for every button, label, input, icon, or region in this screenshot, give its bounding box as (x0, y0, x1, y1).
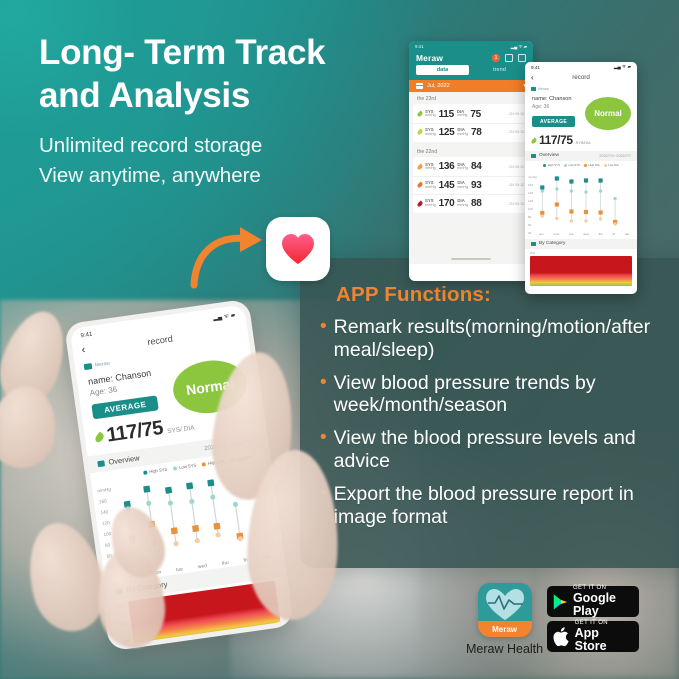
status-bar: 9:41 ▂▄ ᯤ ▰ (409, 41, 533, 50)
y-tick: 120 (528, 199, 533, 203)
headline-title: Long- Term Track and Analysis (39, 32, 379, 117)
function-text: View the blood pressure levels and advic… (334, 427, 678, 473)
record-time: J24 09:12 (509, 112, 524, 116)
tab-trend[interactable]: trend (473, 65, 526, 75)
y-tick: 140 (528, 191, 533, 195)
category-chart-small: DIA (525, 249, 637, 290)
brand-strip-label: Meraw (538, 87, 549, 91)
brand-block: Meraw Meraw Health (466, 583, 543, 656)
record-summary: name: Chanson Age: 36 AVERAGE 117/75 SYS… (525, 93, 637, 151)
heart-waveform-icon (478, 583, 532, 623)
legend-item: Low SYS (564, 164, 580, 167)
sys-value: 145 (439, 180, 455, 191)
status-time: 9:41 (80, 332, 92, 340)
section-square-icon (531, 154, 536, 158)
headline-line-2: and Analysis (39, 76, 250, 115)
status-icons: ▂▄ ᯤ ▰ (511, 44, 527, 50)
y-tick: 60 (528, 223, 531, 227)
y-tick: 80 (528, 215, 531, 219)
category-title: By Category (539, 241, 565, 246)
section-square-icon (531, 242, 536, 246)
bullet-icon: • (320, 484, 327, 529)
headline-subtitle: Unlimited record storage View anytime, a… (39, 131, 379, 190)
table-row[interactable]: SYSmmHg 115 DIAmmHg 75 J24 09:12 (413, 105, 529, 123)
level-drop-icon (530, 137, 537, 144)
curved-arrow-icon (190, 215, 270, 290)
phone-record-small: 9:41 ▂▄ ᯤ ▰ ‹ record Meraw name: Chanson… (525, 62, 637, 294)
level-drop-icon (416, 111, 423, 118)
records-card: SYSmmHg 136 DIAmmHg 84 J24 09:12 SYSmmHg… (413, 157, 529, 213)
y-tick: 40 (108, 564, 114, 570)
level-drop-icon (416, 200, 423, 207)
bullet-icon: • (320, 428, 327, 473)
tab-data[interactable]: data (416, 65, 469, 75)
dia-label: DIAmmHg (457, 199, 468, 207)
average-value: 117/75 (105, 417, 164, 448)
app-icon-label: Meraw (478, 621, 532, 637)
chart-legend: High SYS Low SYS High DIA Low DIA (530, 164, 632, 167)
table-row[interactable]: SYSmmHg 136 DIAmmHg 84 J24 09:12 (413, 158, 529, 176)
list-item: • Remark results(morning/motion/after me… (320, 316, 678, 362)
level-drop-icon (416, 129, 423, 136)
calendar-icon (416, 83, 423, 90)
legend-item: High SYS (543, 164, 560, 167)
list-item: • View the blood pressure levels and adv… (320, 427, 678, 473)
category-heatmap (530, 256, 632, 286)
average-value: 117/75 (539, 133, 573, 147)
status-icons: ▂▄ ᯤ ▰ (614, 64, 631, 70)
bullet-icon: • (320, 373, 327, 418)
dia-label: DIAmmHg (457, 163, 468, 171)
promo-banner: Long- Term Track and Analysis Unlimited … (0, 0, 679, 679)
brand-square-icon (84, 363, 93, 370)
records-list[interactable]: the 23rd SYSmmHg 115 DIAmmHg 75 J24 09:1… (409, 92, 533, 254)
sys-label: SYSmmHg (425, 110, 436, 118)
brand-square-icon (531, 87, 536, 91)
headline-block: Long- Term Track and Analysis Unlimited … (39, 32, 379, 191)
y-tick: 40 (528, 231, 531, 235)
apple-icon (553, 626, 570, 647)
date-label-group: Jul, 2022 (416, 83, 450, 90)
category-axis-label: DIA (116, 604, 125, 611)
google-play-icon (553, 592, 568, 612)
badge-text: GET IT ON App Store (575, 620, 633, 653)
record-time: J24 09:12 (509, 202, 524, 206)
legend-item: Low SYS (173, 464, 197, 472)
overview-date-range: 2022/7/1~2022/7/7 (599, 154, 631, 158)
phone-a-topbar: 9:41 ▂▄ ᯤ ▰ Meraw 1 data trend (409, 41, 533, 80)
day-group-label: the 22nd (413, 145, 529, 157)
x-axis-labels: sunmon tuewed thufri sat (539, 232, 629, 236)
brand-strip-label: Meraw (95, 361, 111, 369)
section-square-icon (115, 588, 123, 595)
brand-name: Meraw Health (466, 642, 543, 656)
level-drop-icon (94, 432, 106, 444)
nav-bar: ‹ record (525, 71, 637, 85)
average-value-unit: SYS/ DIA (167, 424, 195, 435)
sys-label: SYSmmHg (425, 199, 436, 207)
function-text: Remark results(morning/motion/after meal… (334, 316, 678, 362)
y-tick: 80 (105, 542, 111, 548)
headline-line-1: Long- Term Track (39, 33, 325, 72)
category-axis-label: DIA (530, 251, 632, 255)
overview-title-group: Overview (531, 153, 559, 158)
app-functions-list: • Remark results(morning/motion/after me… (320, 316, 678, 539)
subtitle-line-1: Unlimited record storage (39, 131, 379, 161)
y-tick: 60 (106, 553, 112, 559)
status-time: 9:41 (415, 44, 424, 50)
sys-label: SYSmmHg (425, 163, 436, 171)
legend-item: High SYS (143, 468, 168, 476)
function-text: View blood pressure trends by week/month… (334, 372, 678, 418)
overview-chart-small: High SYS Low SYS High DIA Low DIA mmHg 1… (525, 161, 637, 237)
category-title-group: By Category (531, 241, 565, 246)
legend-item: Low DIA (604, 164, 619, 167)
heart-icon (281, 233, 315, 265)
phone-data-list: 9:41 ▂▄ ᯤ ▰ Meraw 1 data trend Jul, 2022 (409, 41, 533, 281)
average-badge: AVERAGE (91, 395, 159, 419)
average-badge: AVERAGE (532, 116, 575, 126)
overview-title: Overview (108, 453, 140, 466)
y-tick: 100 (121, 639, 130, 645)
badge-store-name: Google Play (573, 592, 633, 618)
chart-plot-large (114, 465, 274, 567)
legend-item: Low DIA (230, 456, 252, 463)
dia-value: 75 (470, 109, 481, 120)
app-store-badge[interactable]: GET IT ON App Store (547, 621, 639, 652)
list-item: • View blood pressure trends by week/mon… (320, 372, 678, 418)
sys-value: 115 (439, 109, 454, 120)
level-drop-icon (416, 182, 423, 189)
y-tick: 100 (528, 207, 533, 211)
sys-label: SYSmmHg (425, 181, 436, 189)
day-group-label: the 23rd (413, 92, 529, 104)
badge-text: GET IT ON Google Play (573, 585, 633, 618)
dia-value: 84 (471, 161, 482, 172)
y-tick: 120 (102, 520, 110, 526)
record-time: J24 09:12 (509, 130, 524, 134)
toolbar-icons: 1 (492, 54, 526, 62)
legend-item: High DIA (584, 164, 600, 167)
phone-screen: 9:41 ▂▄ ᯤ ▰ ‹ record Meraw name: Chanson… (70, 304, 289, 645)
average-value-unit: SYS/DIA (576, 141, 591, 145)
nav-title: record (572, 74, 590, 81)
legend-item: High DIA (202, 460, 225, 468)
table-row[interactable]: SYSmmHg 145 DIAmmHg 93 J24 09:12 (413, 177, 529, 195)
brand-strip: Meraw (525, 85, 637, 93)
sys-label: SYSmmHg (425, 128, 436, 136)
table-row[interactable]: SYSmmHg 125 DIAmmHg 78 J24 09:12 (413, 124, 529, 141)
nav-title: record (147, 334, 174, 347)
sys-value: 136 (439, 161, 455, 172)
y-tick: 140 (100, 509, 108, 515)
y-tick: 160 (99, 498, 107, 504)
dia-value: 93 (471, 180, 482, 191)
chart-plot-small (535, 173, 637, 233)
average-value-row: 117/75 SYS/DIA (532, 133, 630, 147)
dia-value: 88 (471, 198, 482, 209)
dia-label: DIAmmHg (457, 181, 468, 189)
app-functions-title: APP Functions: (336, 283, 491, 307)
notification-badge-icon[interactable]: 1 (492, 54, 500, 62)
y-tick: 120 (119, 622, 128, 629)
category-title: By Category (126, 580, 168, 595)
y-tick: 100 (103, 531, 111, 537)
calendar-icon[interactable] (518, 54, 526, 62)
function-text: Export the blood pressure report in imag… (334, 483, 678, 529)
y-tick: 160 (528, 183, 533, 187)
section-square-icon (97, 460, 105, 467)
sys-value: 125 (439, 127, 455, 138)
overview-section-header: Overview 2022/7/1~2022/7/7 (525, 151, 637, 161)
status-time: 9:41 (531, 65, 540, 70)
home-indicator (409, 254, 533, 264)
subtitle-line-2: View anytime, anywhere (39, 161, 379, 191)
back-arrow-icon[interactable]: ‹ (531, 73, 534, 82)
record-time: J24 09:12 (509, 165, 524, 169)
list-item: • Export the blood pressure report in im… (320, 483, 678, 529)
category-section-header: By Category (525, 239, 637, 249)
status-badge: Normal (585, 97, 631, 130)
app-brand-name: Meraw (416, 53, 443, 63)
records-card: SYSmmHg 115 DIAmmHg 75 J24 09:12 SYSmmHg… (413, 104, 529, 142)
date-label: Jul, 2022 (427, 83, 450, 89)
overview-date-range: 2022/7/1~2022/7/7 (204, 439, 255, 452)
overview-title-group: Overview (97, 453, 140, 468)
overview-title: Overview (539, 153, 559, 158)
sys-value: 170 (439, 198, 455, 209)
dia-label: DIAmmHg (457, 128, 468, 136)
record-time: J24 09:12 (509, 183, 524, 187)
badge-store-name: App Store (575, 627, 633, 653)
date-selector-bar[interactable]: Jul, 2022 ▾ (409, 80, 533, 93)
level-drop-icon (416, 163, 423, 170)
table-row[interactable]: SYSmmHg 170 DIAmmHg 88 J24 09:12 (413, 195, 529, 212)
axis-unit-label: mmHg (97, 487, 111, 494)
dia-value: 78 (471, 127, 482, 138)
heart-app-tile (266, 217, 330, 281)
back-arrow-icon[interactable]: ‹ (81, 344, 86, 356)
tab-bar: data trend (409, 65, 533, 80)
status-bar: 9:41 ▂▄ ᯤ ▰ (525, 62, 637, 71)
app-icon: Meraw (478, 583, 532, 637)
dia-label: DIAmmHg (457, 110, 468, 118)
app-title-row: Meraw 1 (409, 50, 533, 65)
google-play-badge[interactable]: GET IT ON Google Play (547, 586, 639, 617)
bullet-icon: • (320, 317, 327, 362)
share-icon[interactable] (505, 54, 513, 62)
